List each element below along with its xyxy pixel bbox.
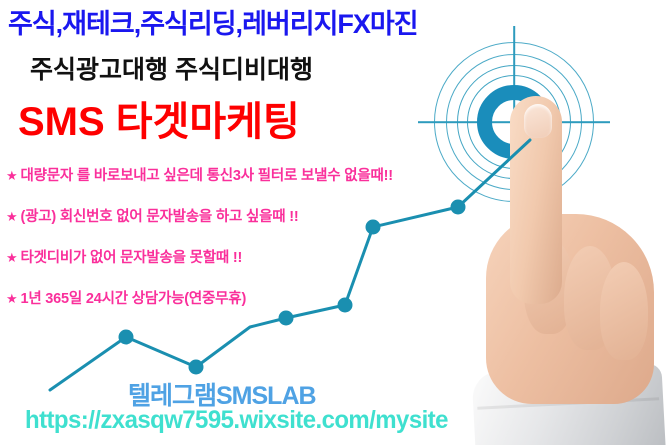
benefit-list: ★대량문자 를 바로보내고 싶은데 통신3사 필터로 보낼수 없을때!!★(광고… bbox=[6, 164, 393, 328]
hand-knuckle bbox=[600, 262, 648, 360]
target-bullseye bbox=[477, 85, 551, 159]
target-ring-2 bbox=[457, 65, 571, 179]
chart-data-point bbox=[119, 330, 134, 345]
target-crosshair-icon bbox=[434, 42, 594, 202]
star-icon: ★ bbox=[6, 209, 17, 224]
benefit-list-item: ★대량문자 를 바로보내고 싶은데 통신3사 필터로 보낼수 없을때!! bbox=[6, 164, 393, 185]
benefit-list-item-label: 1년 365일 24시간 상담가능(연중무휴) bbox=[20, 291, 246, 307]
pointing-hand-image bbox=[468, 96, 668, 445]
benefit-list-item: ★타겟디비가 없어 문자발송을 못할때 !! bbox=[6, 246, 393, 267]
fingernail bbox=[524, 104, 552, 138]
crosshair-vertical-line bbox=[513, 26, 515, 218]
benefit-list-item-label: (광고) 회신번호 없어 문자발송을 하고 싶을때 !! bbox=[20, 209, 298, 225]
target-ring-1 bbox=[467, 75, 561, 169]
index-finger bbox=[510, 96, 562, 304]
benefit-list-item-label: 타겟디비가 없어 문자발송을 못할때 !! bbox=[20, 250, 242, 266]
star-icon: ★ bbox=[6, 250, 17, 265]
hand-knuckle bbox=[564, 246, 616, 350]
hand-palm bbox=[486, 214, 654, 404]
benefit-list-item-label: 대량문자 를 바로보내고 싶은데 통신3사 필터로 보낼수 없을때!! bbox=[20, 168, 392, 184]
hand-knuckle bbox=[524, 238, 574, 334]
chart-data-point bbox=[189, 360, 204, 375]
target-ring-outer bbox=[434, 42, 594, 202]
chart-data-point bbox=[451, 200, 466, 215]
crosshair-horizontal-line bbox=[418, 121, 610, 123]
headline-secondary: 주식광고대행 주식디비대행 bbox=[30, 50, 313, 86]
benefit-list-item: ★1년 365일 24시간 상담가능(연중무휴) bbox=[6, 287, 393, 308]
benefit-list-item: ★(광고) 회신번호 없어 문자발송을 하고 싶을때 !! bbox=[6, 205, 393, 226]
headline-primary: 주식,재테크,주식리딩,레버리지FX마진 bbox=[8, 2, 418, 41]
star-icon: ★ bbox=[6, 168, 17, 183]
star-icon: ★ bbox=[6, 291, 17, 306]
advertisement-banner: 주식,재테크,주식리딩,레버리지FX마진 주식광고대행 주식디비대행 SMS 타… bbox=[0, 0, 670, 445]
target-ring-3 bbox=[446, 54, 582, 190]
website-url-link[interactable]: https://zxasqw7595.wixsite.com/mysite bbox=[25, 406, 448, 435]
headline-tertiary: SMS 타겟마케팅 bbox=[18, 89, 300, 147]
shirt-cuff bbox=[472, 363, 667, 445]
